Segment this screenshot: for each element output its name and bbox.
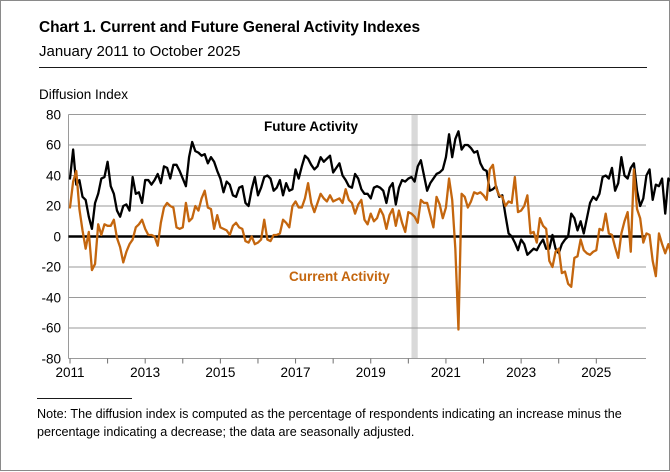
y-axis-tick-label: -40 [27, 290, 61, 305]
x-axis-tick-label: 2025 [572, 365, 620, 380]
x-axis-tick-label: 2019 [347, 365, 395, 380]
chart-note: Note: The diffusion index is computed as… [37, 405, 637, 441]
x-axis-tick-label: 2015 [196, 365, 244, 380]
note-divider [37, 398, 132, 399]
series-label-future: Future Activity [264, 119, 358, 134]
y-axis-tick-label: 60 [27, 138, 61, 153]
y-axis-tick-label: 40 [27, 168, 61, 183]
y-axis-tick-label: -80 [27, 351, 61, 366]
y-axis-tick-label: 0 [27, 229, 61, 244]
x-axis-tick-label: 2021 [422, 365, 470, 380]
series-line-current [70, 165, 670, 330]
y-axis-tick-label: -60 [27, 321, 61, 336]
x-axis-tick-label: 2023 [497, 365, 545, 380]
chart-page: Chart 1. Current and Future General Acti… [0, 0, 670, 471]
x-axis-tick-label: 2017 [272, 365, 320, 380]
y-axis-tick-label: 20 [27, 199, 61, 214]
y-axis-tick-label: -20 [27, 260, 61, 275]
chart-plot-area [1, 1, 670, 472]
y-axis-tick-label: 80 [27, 107, 61, 122]
x-axis-tick-label: 2011 [46, 365, 94, 380]
series-label-current: Current Activity [289, 269, 390, 284]
x-axis-tick-label: 2013 [121, 365, 169, 380]
